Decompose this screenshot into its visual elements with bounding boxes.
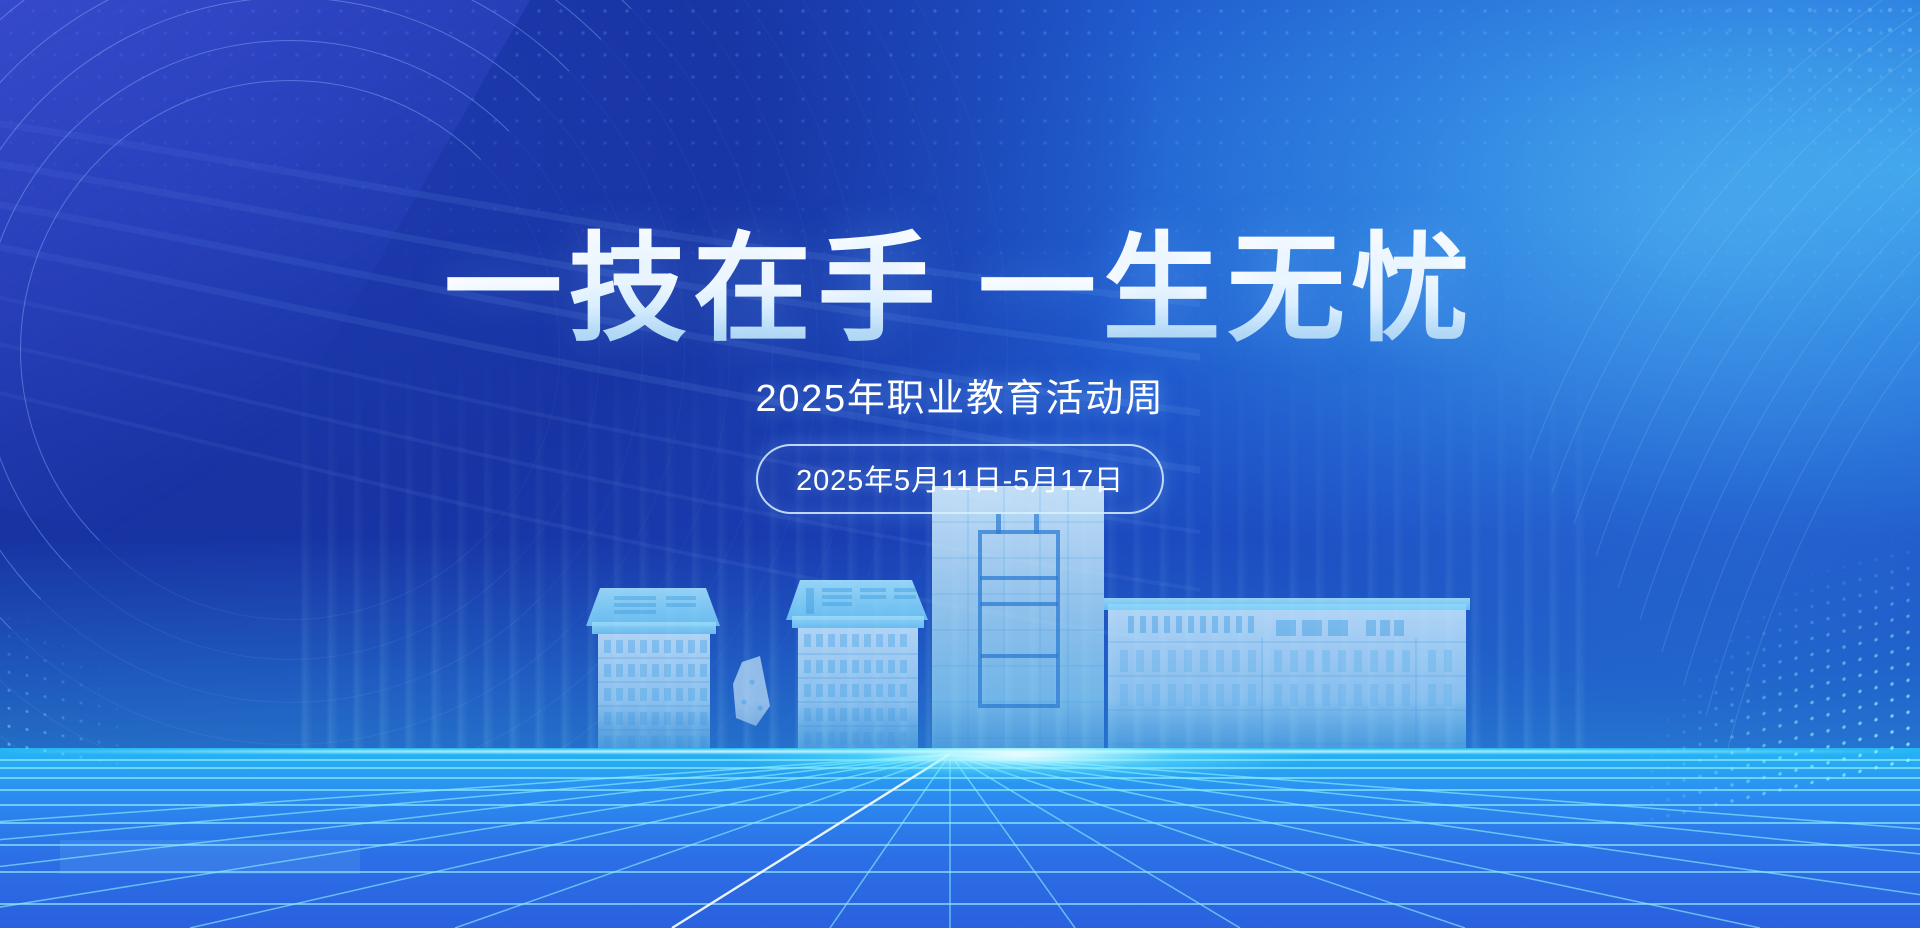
poster-banner: 一技在手 一生无忧 2025年职业教育活动周 2025年5月11日-5月17日 <box>0 0 1920 928</box>
event-date-badge: 2025年5月11日-5月17日 <box>756 444 1164 514</box>
poster-subtitle: 2025年职业教育活动周 <box>755 367 1164 422</box>
poster-content: 一技在手 一生无忧 2025年职业教育活动周 2025年5月11日-5月17日 <box>0 0 1920 928</box>
poster-headline: 一技在手 一生无忧 <box>444 228 1476 353</box>
